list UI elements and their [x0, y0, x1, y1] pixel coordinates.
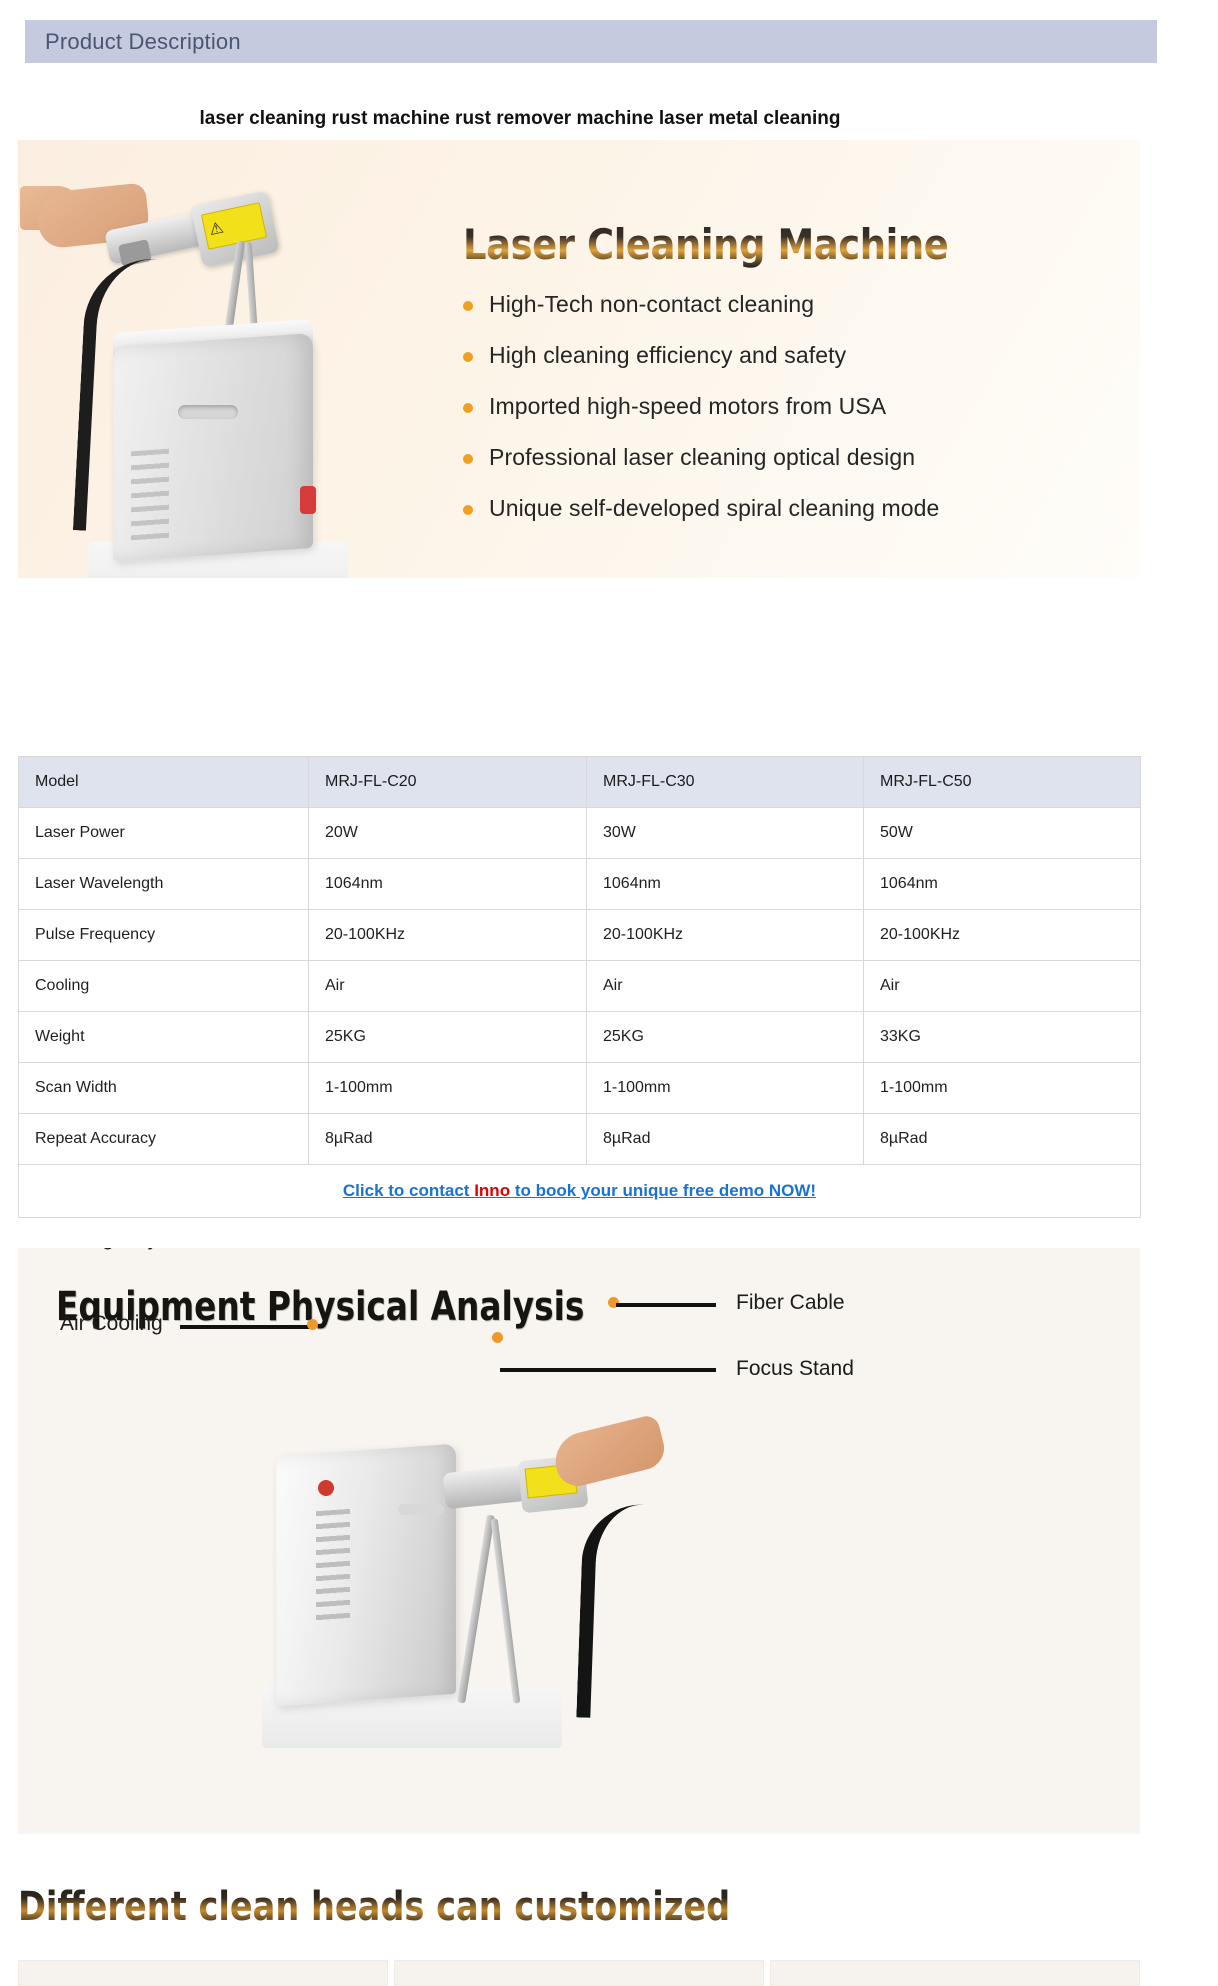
- fiber-cable-shape: [576, 1503, 669, 1721]
- cell-value: 1-100mm: [309, 1063, 587, 1114]
- list-item: High-Tech non-contact cleaning: [463, 291, 1123, 318]
- cell-value: 25KG: [309, 1012, 587, 1063]
- list-item: Unique self-developed spiral cleaning mo…: [463, 495, 1123, 522]
- banner-heading: Laser Cleaning Machine: [463, 220, 1044, 269]
- machine-photo: [28, 150, 448, 575]
- cta-prefix: Click to contact: [343, 1181, 474, 1200]
- bullet-dot-icon: [463, 403, 473, 413]
- cell-value: 20W: [309, 808, 587, 859]
- feature-text: High cleaning efficiency and safety: [489, 342, 846, 368]
- bullet-dot-icon: [463, 301, 473, 311]
- callout-line-fiber-cable: [616, 1303, 716, 1307]
- row-label: Pulse Frequency: [19, 910, 309, 961]
- row-label: Cooling: [19, 961, 309, 1012]
- row-label: Laser Power: [19, 808, 309, 859]
- column-header: MRJ-FL-C20: [309, 757, 587, 808]
- list-item: Professional laser cleaning optical desi…: [463, 444, 1123, 471]
- table-row: Cooling Air Air Air: [19, 961, 1141, 1012]
- callout-label-focus-stand: Focus Stand: [736, 1357, 854, 1381]
- fiber-cable-shape: [73, 255, 190, 535]
- emergency-button-icon: [300, 486, 316, 514]
- emergency-button-icon: [318, 1480, 334, 1496]
- callout-line-focus-stand: [500, 1368, 716, 1372]
- custom-heads-title: Different clean heads can customized: [18, 1884, 730, 1930]
- hand-shape: [549, 1413, 668, 1490]
- row-label: Repeat Accuracy: [19, 1114, 309, 1165]
- cell-value: 20-100KHz: [587, 910, 864, 961]
- product-title: laser cleaning rust machine rust remover…: [0, 108, 1040, 130]
- cell-value: 20-100KHz: [864, 910, 1141, 961]
- table-row: Scan Width 1-100mm 1-100mm 1-100mm: [19, 1063, 1141, 1114]
- thumbnail-item[interactable]: [18, 1960, 388, 1986]
- equipment-photo: [258, 1418, 648, 1748]
- cell-value: 1-100mm: [864, 1063, 1141, 1114]
- bullet-dot-icon: [463, 454, 473, 464]
- clean-head-thumbnail-row: [18, 1960, 1140, 1986]
- machine-handle: [398, 1504, 444, 1515]
- cell-value: 30W: [587, 808, 864, 859]
- specification-table: Model MRJ-FL-C20 MRJ-FL-C30 MRJ-FL-C50 L…: [18, 756, 1141, 1218]
- bullet-dot-icon: [463, 352, 473, 362]
- contact-demo-link[interactable]: Click to contact Inno to book your uniqu…: [343, 1181, 816, 1200]
- list-item: High cleaning efficiency and safety: [463, 342, 1123, 369]
- thumbnail-item[interactable]: [770, 1960, 1140, 1986]
- machine-vents: [316, 1509, 350, 1621]
- cta-cell: Click to contact Inno to book your uniqu…: [19, 1165, 1141, 1218]
- feature-text: Imported high-speed motors from USA: [489, 393, 886, 419]
- cell-value: 1064nm: [309, 859, 587, 910]
- section-header-bar: Product Description: [25, 20, 1157, 63]
- focus-stand-leg-right: [491, 1518, 521, 1703]
- callout-line-air-cooling: [180, 1325, 315, 1329]
- row-label: Weight: [19, 1012, 309, 1063]
- callout-label-emergency: Emergency: [52, 1248, 158, 1251]
- table-cta-row: Click to contact Inno to book your uniqu…: [19, 1165, 1141, 1218]
- column-header: Model: [19, 757, 309, 808]
- table-row: Repeat Accuracy 8µRad 8µRad 8µRad: [19, 1114, 1141, 1165]
- machine-body: [276, 1444, 456, 1707]
- column-header: MRJ-FL-C30: [587, 757, 864, 808]
- product-description-page: Product Description laser cleaning rust …: [0, 0, 1218, 1986]
- equipment-analysis-panel: Equipment Physical Analysis Switch Emerg…: [18, 1248, 1140, 1834]
- table-header-row: Model MRJ-FL-C20 MRJ-FL-C30 MRJ-FL-C50: [19, 757, 1141, 808]
- callout-label-fiber-cable: Fiber Cable: [736, 1291, 845, 1315]
- row-label: Laser Wavelength: [19, 859, 309, 910]
- callout-label-air-cooling: Air Cooling: [60, 1312, 163, 1336]
- machine-handle: [178, 405, 238, 419]
- cell-value: 1064nm: [864, 859, 1141, 910]
- banner-feature-list: High-Tech non-contact cleaning High clea…: [463, 291, 1123, 522]
- cta-suffix: to book your unique free demo NOW!: [510, 1181, 816, 1200]
- cell-value: Air: [309, 961, 587, 1012]
- column-header: MRJ-FL-C50: [864, 757, 1141, 808]
- bullet-dot-icon: [463, 505, 473, 515]
- promo-banner: Laser Cleaning Machine High-Tech non-con…: [18, 140, 1140, 578]
- banner-text-block: Laser Cleaning Machine High-Tech non-con…: [463, 220, 1123, 546]
- cell-value: 8µRad: [587, 1114, 864, 1165]
- cell-value: 33KG: [864, 1012, 1141, 1063]
- feature-text: Professional laser cleaning optical desi…: [489, 444, 915, 470]
- cell-value: 1064nm: [587, 859, 864, 910]
- cta-highlight: Inno: [474, 1181, 510, 1200]
- row-label: Scan Width: [19, 1063, 309, 1114]
- cell-value: 25KG: [587, 1012, 864, 1063]
- focus-stand-leg-left: [457, 1515, 495, 1704]
- list-item: Imported high-speed motors from USA: [463, 393, 1123, 420]
- cell-value: 8µRad: [864, 1114, 1141, 1165]
- table-row: Pulse Frequency 20-100KHz 20-100KHz 20-1…: [19, 910, 1141, 961]
- thumbnail-item[interactable]: [394, 1960, 764, 1986]
- feature-text: Unique self-developed spiral cleaning mo…: [489, 495, 939, 521]
- table-row: Weight 25KG 25KG 33KG: [19, 1012, 1141, 1063]
- cell-value: 8µRad: [309, 1114, 587, 1165]
- table-row: Laser Power 20W 30W 50W: [19, 808, 1141, 859]
- callout-dot-icon: [307, 1319, 318, 1330]
- cell-value: Air: [587, 961, 864, 1012]
- feature-text: High-Tech non-contact cleaning: [489, 291, 814, 317]
- page-title: Product Description: [25, 29, 241, 55]
- cell-value: 20-100KHz: [309, 910, 587, 961]
- cell-value: Air: [864, 961, 1141, 1012]
- table-row: Laser Wavelength 1064nm 1064nm 1064nm: [19, 859, 1141, 910]
- callout-dot-icon: [492, 1332, 503, 1343]
- cell-value: 50W: [864, 808, 1141, 859]
- cell-value: 1-100mm: [587, 1063, 864, 1114]
